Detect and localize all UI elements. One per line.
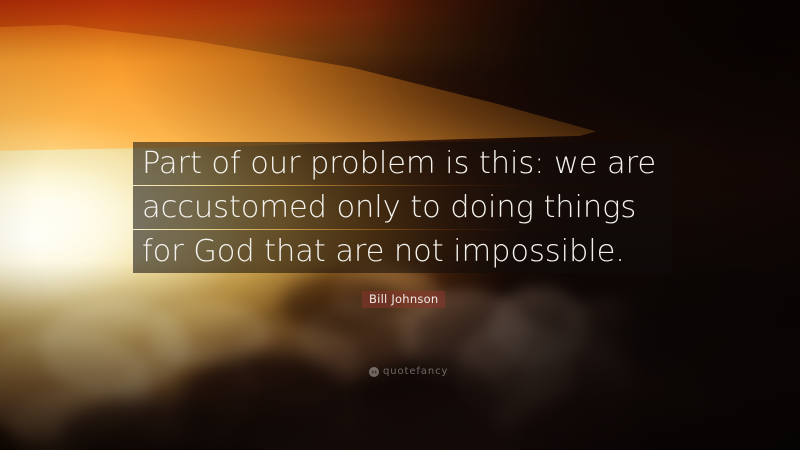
quote-wallpaper: Part of our problem is this: we are accu… [0, 0, 800, 450]
quote-badge-icon [369, 367, 379, 377]
cloud-puff [10, 385, 180, 450]
quote-text-block: Part of our problem is this: we are accu… [133, 142, 678, 274]
cloud-puff [600, 355, 710, 435]
quote-line-3: for God that are not impossible. [133, 230, 672, 273]
cloud-puff [250, 395, 400, 450]
cloud-shadow [60, 400, 220, 450]
cloud-puff [420, 400, 560, 450]
quote-line-1: Part of our problem is this: we are [133, 142, 672, 185]
cloud-shadow [620, 270, 800, 390]
watermark-brand-label: quotefancy [383, 366, 448, 377]
cloud-shadow [180, 355, 350, 445]
cloud-puff [40, 300, 190, 395]
cloud-puff [455, 320, 575, 430]
cloud-puff [490, 288, 590, 368]
quotefancy-watermark[interactable]: quotefancy [369, 366, 448, 377]
cloud-puff [150, 300, 270, 370]
cloud-puff [120, 345, 260, 445]
cloud-puff [560, 300, 650, 370]
quote-line-2: accustomed only to doing things [133, 186, 672, 229]
author-attribution: Bill Johnson [362, 291, 445, 308]
cloud-puff [230, 320, 360, 405]
cloud-puff [520, 335, 635, 435]
cloud-puff [0, 330, 150, 440]
cloud-shadow [520, 390, 700, 450]
